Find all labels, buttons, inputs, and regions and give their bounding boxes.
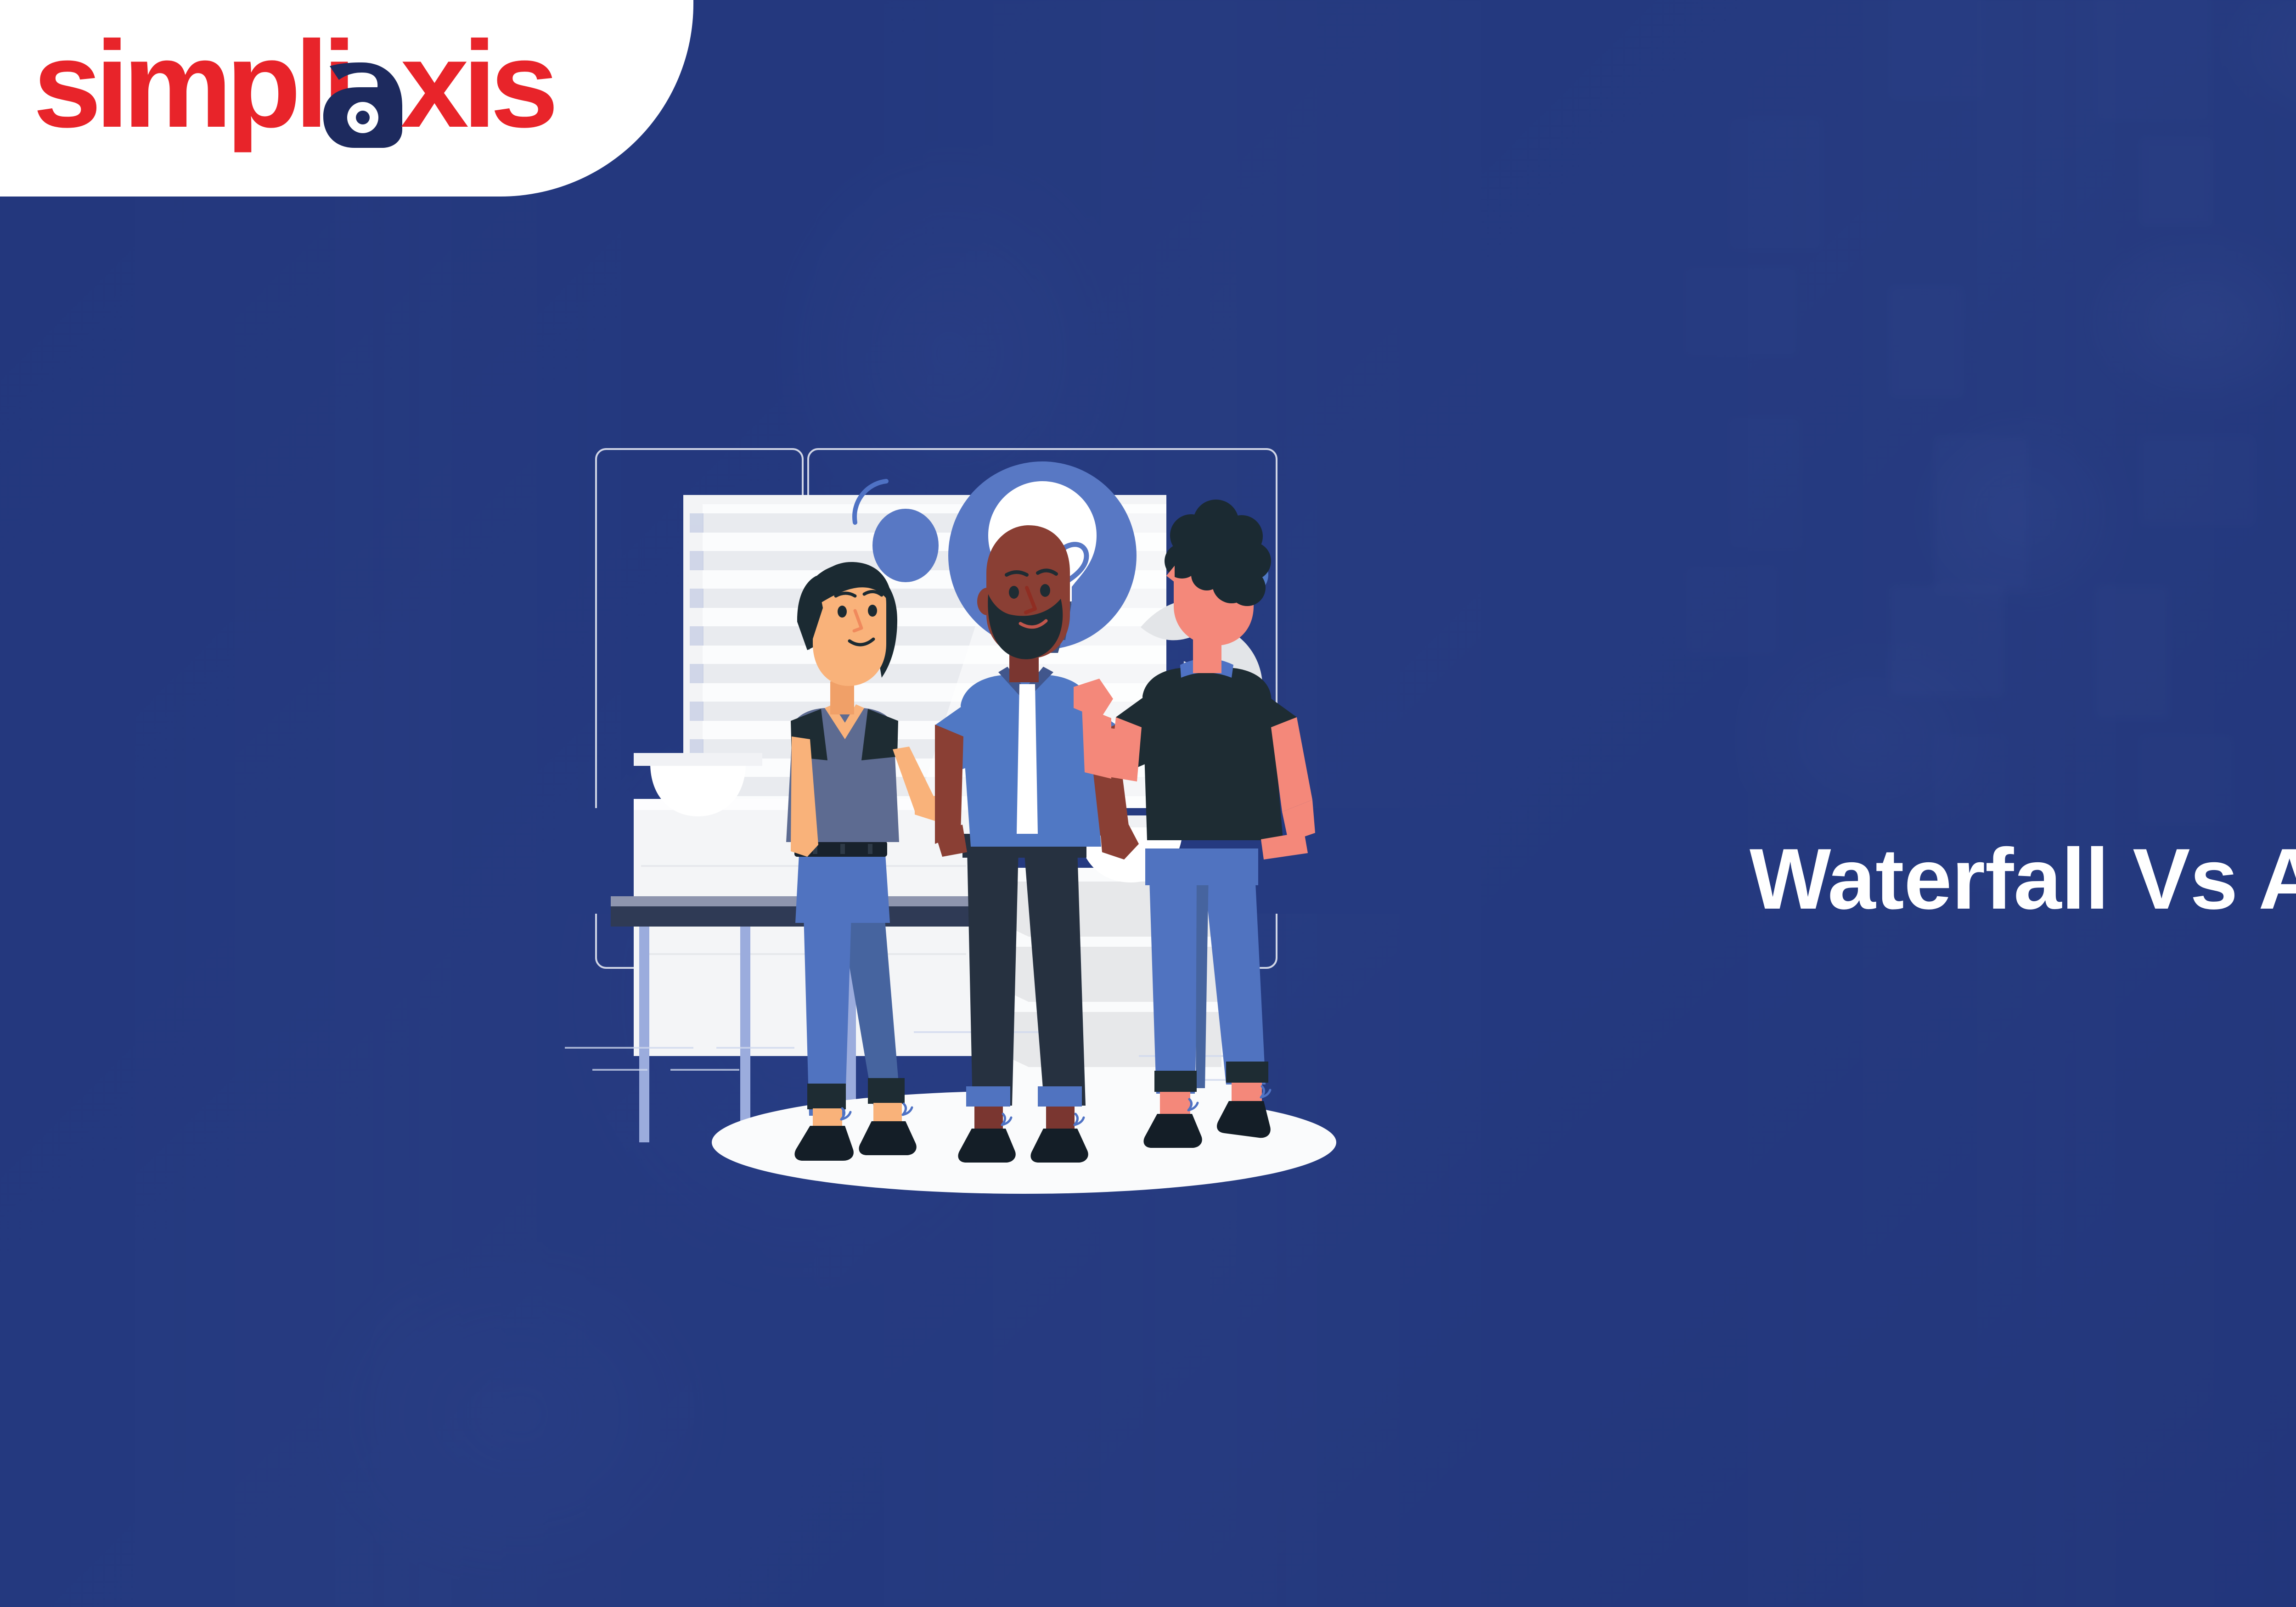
logo-text-xis: xis xyxy=(400,20,554,153)
logo-panel: simpli xis xyxy=(0,0,693,197)
page-title: Waterfall Vs Agile xyxy=(1750,834,2296,924)
hero-banner: simpli xis Waterfall Vs Agile xyxy=(0,0,2296,1607)
blue-circle-large xyxy=(872,509,939,582)
logo-text-simpli: simpli xyxy=(33,20,350,154)
team-brainstorm-illustration xyxy=(565,404,1465,1212)
simpliaxis-logo[interactable]: simpli xis xyxy=(33,20,602,158)
